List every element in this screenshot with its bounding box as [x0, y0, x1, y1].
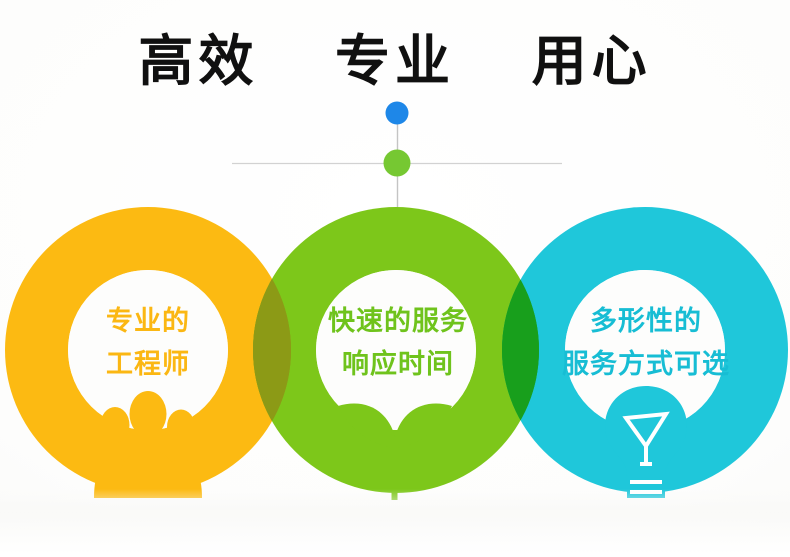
ring-engineer-line1: 专业的 [106, 306, 190, 336]
poster-canvas: 高效 专业 用心 [0, 0, 790, 557]
ring-service-label: 多形性的 服务方式可选 [520, 300, 772, 386]
ring-engineer-label: 专业的 工程师 [28, 300, 268, 386]
ring-response-label: 快速的服务 响应时间 [278, 300, 518, 386]
people-group-icon [88, 388, 208, 498]
ring-response-line2: 响应时间 [278, 343, 518, 386]
ring-service-line1: 多形性的 [590, 306, 702, 336]
ring-engineer-line2: 工程师 [28, 343, 268, 386]
ring-response-line1: 快速的服务 [328, 306, 468, 336]
ring-service-line2: 服务方式可选 [520, 343, 772, 386]
sprout-leaf-icon [332, 384, 458, 500]
lightbulb-idea-icon [596, 384, 696, 498]
